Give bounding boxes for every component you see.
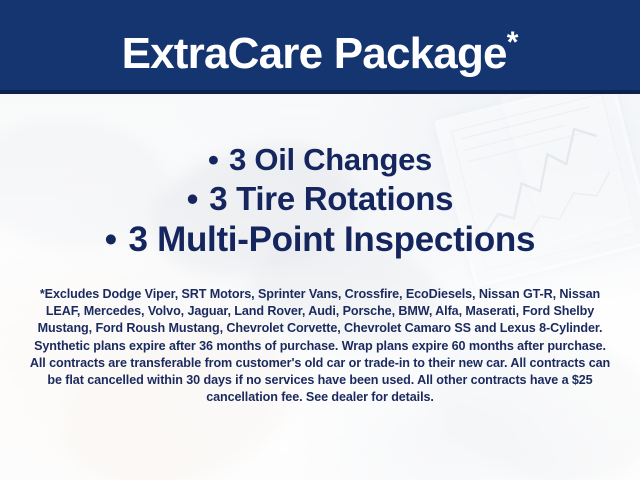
benefit-item-tire-rotations: • 3 Tire Rotations bbox=[0, 179, 640, 219]
page-title-asterisk: * bbox=[507, 26, 519, 59]
bullet-icon: • bbox=[187, 180, 201, 217]
benefit-item-oil-changes: • 3 Oil Changes bbox=[0, 140, 640, 179]
header-bottom-rule bbox=[0, 90, 640, 94]
extracare-package-ad: ExtraCare Package* • 3 Oil Changes • 3 T… bbox=[0, 0, 640, 480]
bullet-icon: • bbox=[208, 142, 221, 177]
benefit-label: 3 Tire Rotations bbox=[209, 180, 453, 217]
benefit-label: 3 Oil Changes bbox=[229, 142, 432, 177]
header-band: ExtraCare Package* bbox=[0, 0, 640, 90]
page-title: ExtraCare Package* bbox=[0, 14, 640, 83]
page-title-text: ExtraCare Package bbox=[122, 29, 507, 78]
benefit-label: 3 Multi-Point Inspections bbox=[129, 220, 536, 259]
benefit-item-multi-point-inspections: • 3 Multi-Point Inspections bbox=[0, 219, 640, 261]
benefits-list: • 3 Oil Changes • 3 Tire Rotations • 3 M… bbox=[0, 140, 640, 261]
bullet-icon: • bbox=[105, 220, 119, 259]
disclaimer-text: *Excludes Dodge Viper, SRT Motors, Sprin… bbox=[26, 286, 614, 406]
